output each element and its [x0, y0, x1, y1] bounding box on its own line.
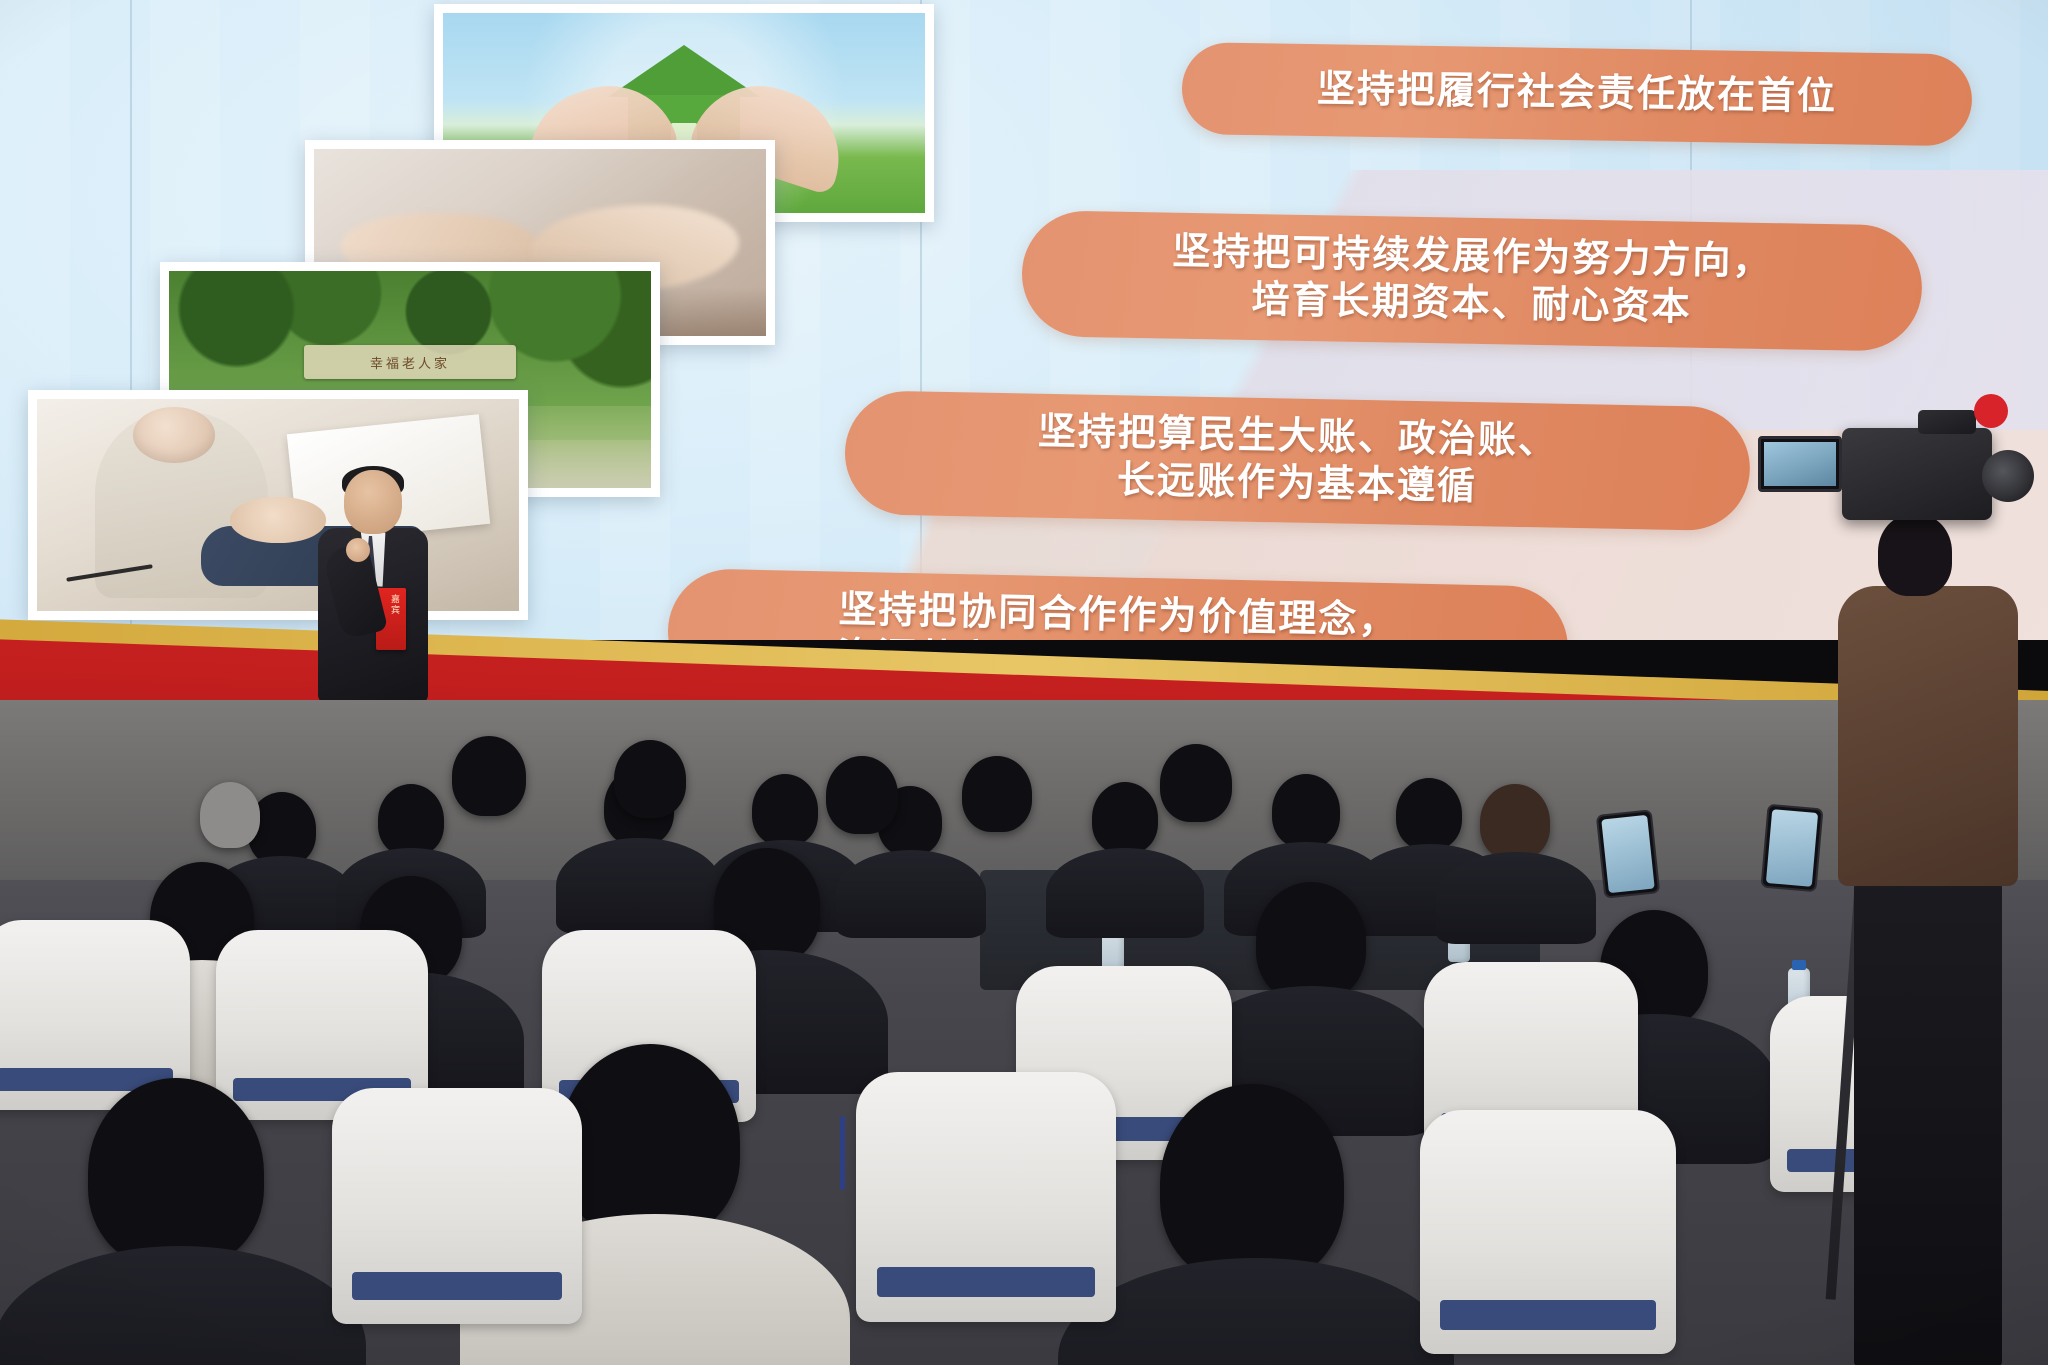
audience-chair — [1420, 1110, 1676, 1354]
audience-head — [752, 774, 818, 846]
audience-head — [614, 740, 686, 818]
camera-operator — [1748, 410, 2048, 1365]
audience-head — [1092, 782, 1158, 854]
gate-plaque: 幸福老人家 — [304, 345, 516, 380]
audience-head — [1396, 778, 1462, 850]
operator-legs — [1854, 876, 2002, 1365]
camera-handle — [1918, 410, 1976, 434]
audience-shoulders — [1436, 852, 1596, 944]
slide-banner-2: 坚持把可持续发展作为努力方向， 培育长期资本、耐心资本 — [1021, 210, 1923, 352]
audience-head — [452, 736, 526, 816]
audience-head — [88, 1078, 264, 1268]
camera-lens-icon — [1982, 450, 2034, 502]
audience-shoulders — [556, 838, 722, 934]
smartphone — [1596, 809, 1660, 898]
audience-head — [1480, 784, 1550, 860]
audience-head — [1160, 1084, 1344, 1284]
speaker-head — [344, 470, 402, 534]
audience-head — [200, 782, 260, 848]
audience-head — [378, 784, 444, 856]
speaker-hand — [346, 538, 370, 562]
slide-banner-3: 坚持把算民生大账、政治账、 长远账作为基本遵循 — [844, 390, 1751, 531]
audience-chair — [856, 1072, 1116, 1322]
operator-jacket — [1838, 586, 2018, 886]
audience-shoulders — [1046, 848, 1204, 938]
audience-head — [826, 756, 898, 834]
audience-head — [1256, 882, 1366, 1002]
photograph-scene: 幸福老人家 坚持把履行社会责任放在首位 坚持把可持续发展作为努力 — [0, 0, 2048, 1365]
audience-chair — [332, 1088, 582, 1324]
audience-head — [1272, 774, 1340, 848]
slide-banner-3-line-1: 坚持把算民生大账、政治账、 — [1037, 409, 1558, 466]
audience-head — [560, 1044, 740, 1240]
audience-head — [962, 756, 1032, 832]
camera-microphone-icon — [1974, 394, 2008, 428]
video-camera — [1842, 428, 1992, 520]
slide-photo-consultation — [28, 390, 528, 620]
slide-banner-3-line-2: 长远账作为基本遵循 — [1037, 456, 1558, 513]
gate-plaque-text: 幸福老人家 — [304, 345, 516, 380]
lanyard — [840, 1116, 845, 1190]
audience-shoulders — [836, 850, 986, 938]
slide-banner-2-line-2: 培育长期资本、耐心资本 — [1171, 276, 1772, 334]
slide-banner-1-line-1: 坚持把履行社会责任放在首位 — [1317, 67, 1838, 122]
operator-head — [1878, 514, 1952, 596]
audience-head — [1160, 744, 1232, 822]
field-monitor — [1758, 436, 1842, 492]
slide-banner-1: 坚持把履行社会责任放在首位 — [1181, 42, 1972, 146]
